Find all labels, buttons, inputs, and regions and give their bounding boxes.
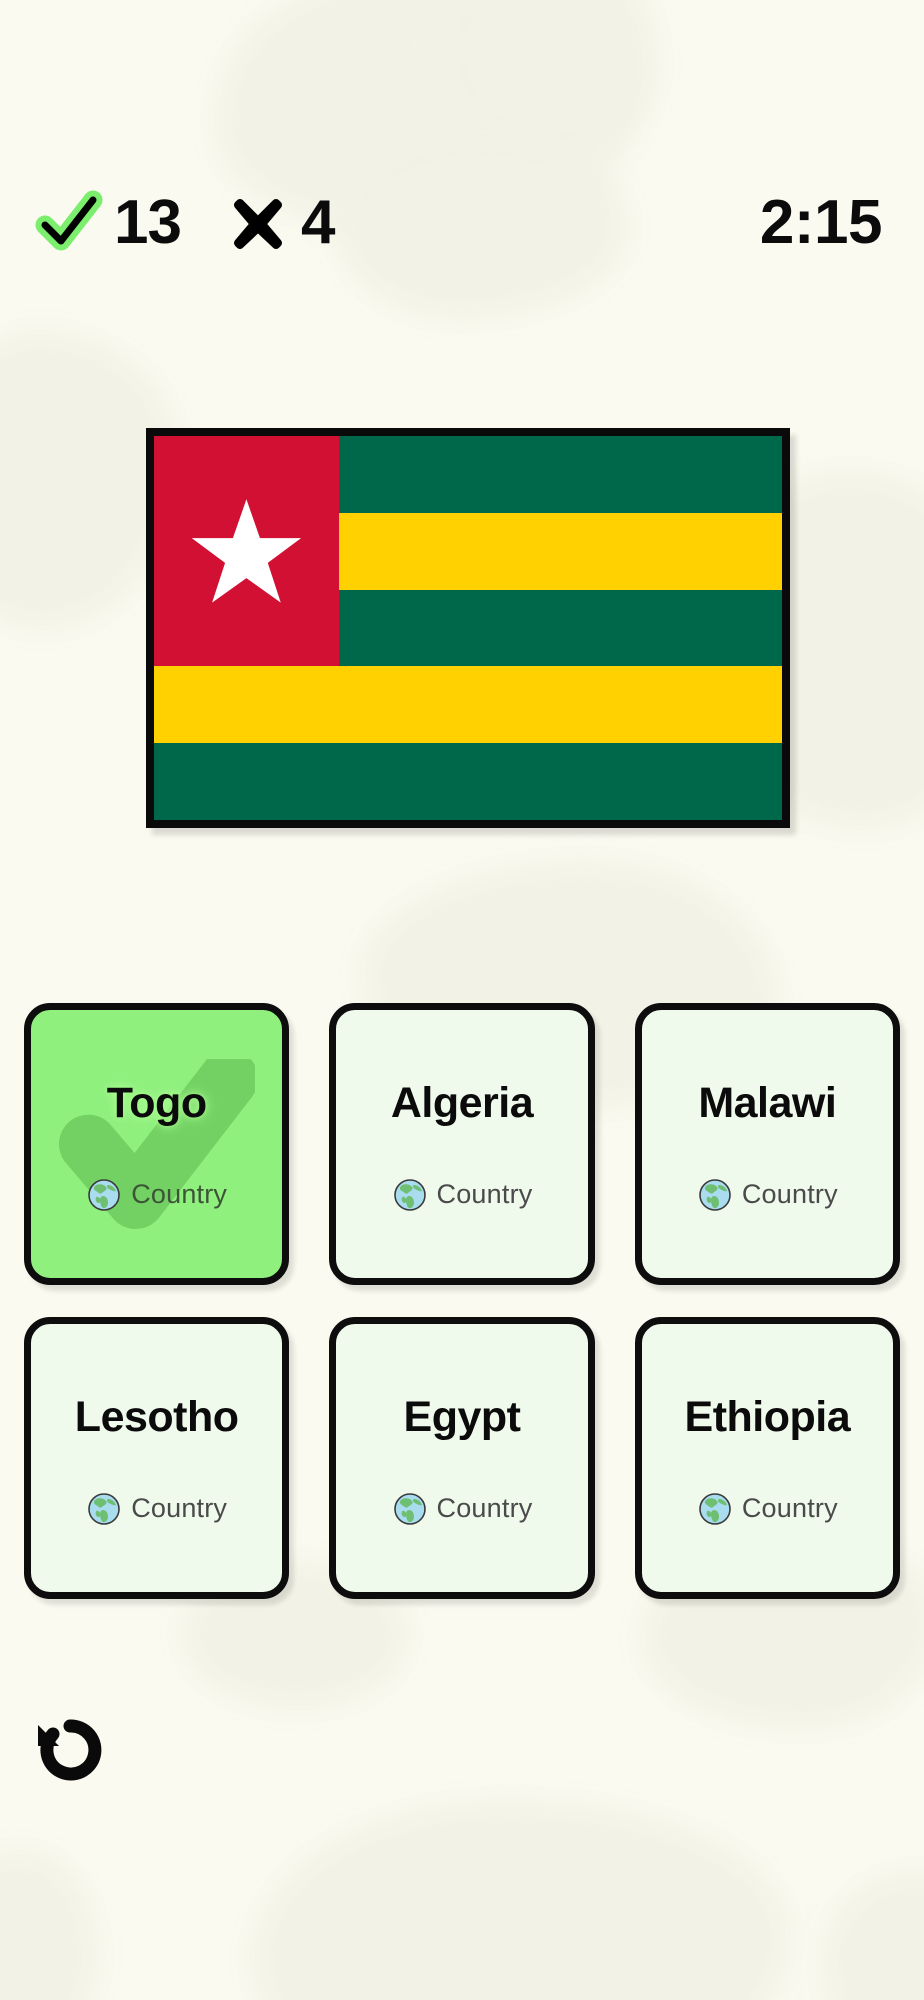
quiz-screen: 13 4 2:15 — [0, 0, 924, 2000]
answer-meta-label: Country — [437, 1181, 533, 1208]
answer-meta: Country — [392, 1177, 533, 1213]
check-icon — [34, 188, 104, 258]
cross-icon — [225, 190, 291, 256]
timer: 2:15 — [760, 192, 890, 254]
answer-meta-label: Country — [742, 1495, 838, 1522]
wrong-count: 4 — [301, 192, 334, 254]
answer-meta: Country — [86, 1491, 227, 1527]
answer-meta-label: Country — [437, 1495, 533, 1522]
flag-image — [146, 428, 790, 828]
answer-label: Lesotho — [75, 1396, 239, 1439]
answer-grid: Togo Country Algeria — [24, 1003, 900, 1599]
wrong-score: 4 — [225, 190, 334, 256]
answer-meta: Country — [86, 1177, 227, 1213]
flag-canvas — [154, 436, 782, 820]
answer-meta: Country — [697, 1177, 838, 1213]
answer-card-1[interactable]: Algeria Country — [329, 1003, 594, 1285]
globe-icon — [697, 1177, 733, 1213]
globe-icon — [86, 1177, 122, 1213]
flag-canton — [154, 436, 339, 666]
answer-label: Togo — [107, 1082, 207, 1125]
globe-icon — [86, 1491, 122, 1527]
correct-count: 13 — [114, 192, 181, 254]
answer-label: Algeria — [391, 1082, 533, 1125]
flag-stripe-4 — [154, 666, 782, 743]
undo-arrow-icon — [26, 1706, 110, 1790]
answer-label: Ethiopia — [685, 1396, 851, 1439]
answer-meta-label: Country — [742, 1181, 838, 1208]
globe-icon — [392, 1491, 428, 1527]
answer-card-4[interactable]: Egypt Country — [329, 1317, 594, 1599]
globe-icon — [697, 1491, 733, 1527]
flag-stripe-5 — [154, 743, 782, 820]
answer-label: Malawi — [698, 1082, 836, 1125]
answer-card-0[interactable]: Togo Country — [24, 1003, 289, 1285]
flag-star-icon — [189, 497, 304, 606]
answer-card-2[interactable]: Malawi Country — [635, 1003, 900, 1285]
answer-meta-label: Country — [131, 1495, 227, 1522]
answer-meta-label: Country — [131, 1181, 227, 1208]
answer-card-3[interactable]: Lesotho Country — [24, 1317, 289, 1599]
globe-icon — [392, 1177, 428, 1213]
answer-card-5[interactable]: Ethiopia Country — [635, 1317, 900, 1599]
answer-label: Egypt — [404, 1396, 521, 1439]
correct-score: 13 — [34, 188, 181, 258]
score-bar: 13 4 2:15 — [0, 178, 924, 268]
undo-button[interactable] — [18, 1700, 118, 1796]
answer-meta: Country — [392, 1491, 533, 1527]
answer-meta: Country — [697, 1491, 838, 1527]
